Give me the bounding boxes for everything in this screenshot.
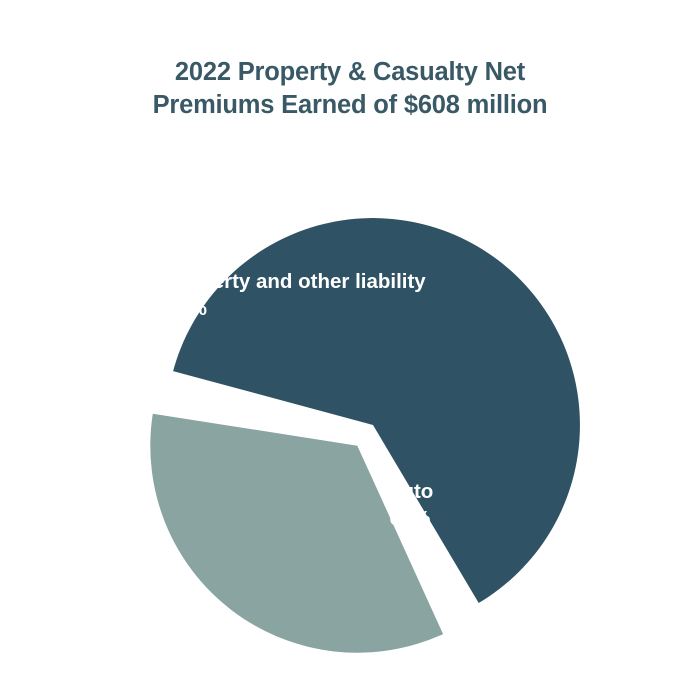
pie-chart-figure: 2022 Property & Casualty Net Premiums Ea… [0, 0, 700, 700]
pie-label-property-and-other-liability: Property and other liability 36% [166, 268, 426, 322]
pie-label-property-name: Property and other liability [166, 270, 426, 293]
pie-label-property-percent: 36% [166, 297, 207, 320]
pie-svg [0, 0, 700, 700]
pie-label-auto: Auto 64% [330, 478, 490, 532]
pie-label-auto-name: Auto [387, 480, 434, 503]
pie-label-auto-percent: 64% [389, 507, 430, 530]
